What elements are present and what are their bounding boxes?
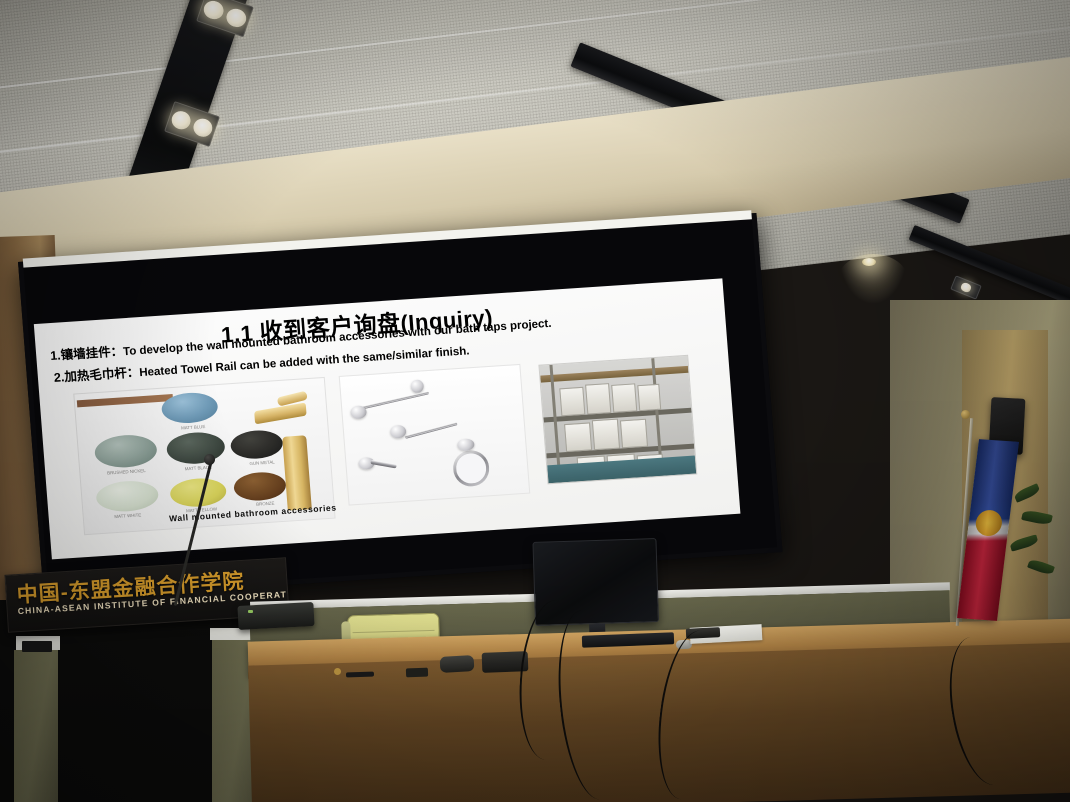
microphone-led-indicator (248, 610, 253, 613)
short-towel-bar (405, 422, 458, 439)
swatch-brushed-nickel (94, 433, 158, 469)
image-warehouse (538, 355, 697, 485)
towel-ring-bracket (457, 438, 475, 451)
lamp-bulb (959, 282, 972, 294)
plant-leaf (1021, 509, 1053, 526)
explorer-icon[interactable] (679, 529, 688, 538)
bullet-1-cn: 镶墙挂件： (60, 344, 123, 362)
ppt-icon[interactable] (712, 526, 721, 535)
towel-bar-bracket (350, 405, 367, 419)
word-icon[interactable] (701, 527, 710, 536)
carton (559, 387, 585, 417)
warehouse-floor (547, 456, 696, 484)
lamp-bulb (224, 6, 249, 30)
swatch-top-stripe (77, 394, 173, 407)
chrome-icon[interactable] (668, 530, 677, 539)
start-icon[interactable] (657, 531, 666, 540)
remote-control[interactable] (406, 668, 428, 678)
carton (620, 419, 648, 449)
carton (585, 383, 611, 415)
desk-microphone-unit[interactable] (440, 655, 475, 673)
towel-bar-bracket (410, 379, 424, 393)
wall-spotlight (862, 258, 876, 266)
downlight-fixture (950, 275, 982, 299)
bullet-2-cn: 加热毛巾杆： (64, 365, 140, 384)
carton (611, 383, 637, 413)
lamp-bulb (191, 116, 215, 140)
swatch-matt-white (95, 479, 159, 513)
swatch-label-matt-blue: MATT BLUE (161, 423, 225, 433)
windows-taskbar[interactable] (651, 516, 740, 543)
carton (592, 419, 620, 451)
mail-icon[interactable] (690, 528, 699, 537)
pen-on-desk (346, 672, 374, 678)
lamp-bulb (169, 108, 193, 132)
app-icon[interactable] (734, 524, 740, 533)
led-video-wall[interactable]: 1.1 收到客户询盘(Inquiry) 1.镶墙挂件：To develop th… (18, 213, 782, 601)
image-chrome-accessories (339, 364, 531, 506)
long-towel-bar (356, 391, 429, 410)
carton (564, 422, 592, 452)
video-conference-sidebar[interactable]: conference-room-camera remote-speaker (733, 279, 741, 559)
conference-room-photo: 1.1 收到客户询盘(Inquiry) 1.镶墙挂件：To develop th… (0, 0, 1070, 802)
folder-icon[interactable] (723, 525, 732, 534)
flagpole-finial (961, 410, 970, 419)
robe-hook (370, 460, 396, 469)
gooseneck-microphone[interactable] (186, 452, 296, 638)
lamp-bulb (201, 0, 226, 22)
acoustic-panel (14, 650, 58, 802)
swatch-label-matt-white: MATT WHITE (96, 511, 160, 521)
towel-ring (452, 449, 491, 487)
potted-plant (1008, 470, 1070, 620)
microphone-base[interactable] (237, 602, 314, 630)
warehouse-beam (540, 366, 688, 383)
carton (637, 384, 661, 411)
microphone-capsule (204, 454, 215, 465)
desk-knob (334, 668, 341, 675)
wall-socket (22, 641, 52, 652)
plant-leaf (1013, 483, 1041, 503)
swatch-label-brushed-nickel: BRUSHED NICKEL (94, 467, 158, 477)
presentation-slide: 1.1 收到客户询盘(Inquiry) 1.镶墙挂件：To develop th… (34, 278, 741, 559)
plant-leaf (1009, 534, 1039, 551)
plant-leaf (1027, 558, 1055, 576)
